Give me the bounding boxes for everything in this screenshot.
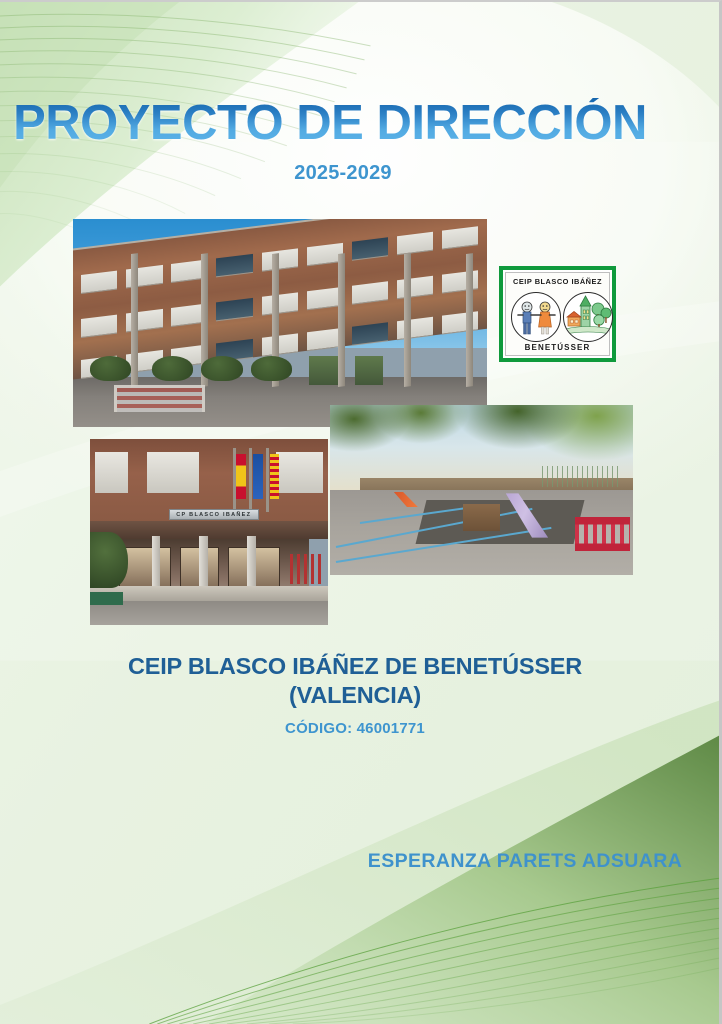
- entrance-door: [309, 356, 338, 385]
- red-barrier-fence: [575, 517, 630, 551]
- bush: [152, 356, 193, 381]
- upper-window: [276, 452, 324, 493]
- bush: [90, 356, 131, 381]
- european-flag: [253, 454, 263, 499]
- bush: [201, 356, 242, 381]
- entrance-canopy: [90, 521, 328, 540]
- upper-window: [147, 452, 199, 493]
- logo-bottom-text: BENETÚSSER: [506, 343, 609, 352]
- flag-pole: [266, 448, 269, 511]
- school-entrance-photo: CP BLASCO IBAÑEZ: [90, 439, 328, 625]
- school-playground-photo: [330, 405, 633, 575]
- two-children-figures-icon: [511, 292, 561, 342]
- school-code: CÓDIGO: 46001771: [0, 720, 710, 737]
- flag-pole: [249, 448, 252, 511]
- green-wall-base: [90, 592, 123, 605]
- valencian-flag: [270, 454, 280, 499]
- school-name-line-1: CEIP BLASCO IBÁÑEZ DE BENETÚSSER: [128, 653, 582, 679]
- school-name-line-2: (VALENCIA): [289, 682, 421, 708]
- facade-pillar: [404, 254, 411, 388]
- handball-goal: [114, 385, 205, 412]
- logo-top-text: CEIP BLASCO IBÁÑEZ: [506, 277, 609, 286]
- pavement: [90, 601, 328, 625]
- school-name-heading: CEIP BLASCO IBÁÑEZ DE BENETÚSSER (VALENC…: [0, 652, 710, 709]
- bottom-dark-swoosh: [204, 736, 719, 1024]
- facade-pillar: [131, 254, 138, 388]
- bottom-striation-lines: [149, 878, 719, 1024]
- title-block: PROYECTO DE DIRECCIÓN: [0, 98, 660, 149]
- facade-pillar: [338, 254, 345, 388]
- entrance-steps: [90, 586, 328, 601]
- school-name-sign: CP BLASCO IBAÑEZ: [169, 509, 259, 521]
- page-title: PROYECTO DE DIRECCIÓN: [0, 98, 660, 149]
- flag-pole: [233, 448, 236, 511]
- bush: [251, 356, 292, 381]
- play-structure: [463, 504, 499, 531]
- document-cover-page: PROYECTO DE DIRECCIÓN 2025-2029: [0, 0, 722, 1024]
- upper-window: [95, 452, 128, 493]
- bush: [90, 532, 128, 588]
- facade-pillar: [466, 254, 473, 388]
- red-railing: [290, 554, 323, 584]
- author-name: ESPERANZA PARETS ADSUARA: [0, 850, 722, 873]
- entrance-door: [355, 356, 384, 385]
- spanish-flag: [236, 454, 246, 499]
- school-building-photo: [73, 219, 487, 427]
- year-range-subtitle: 2025-2029: [0, 162, 686, 185]
- school-logo: CEIP BLASCO IBÁÑEZ: [499, 266, 616, 362]
- village-church-trees-icon: [563, 292, 613, 342]
- green-fence: [542, 466, 621, 486]
